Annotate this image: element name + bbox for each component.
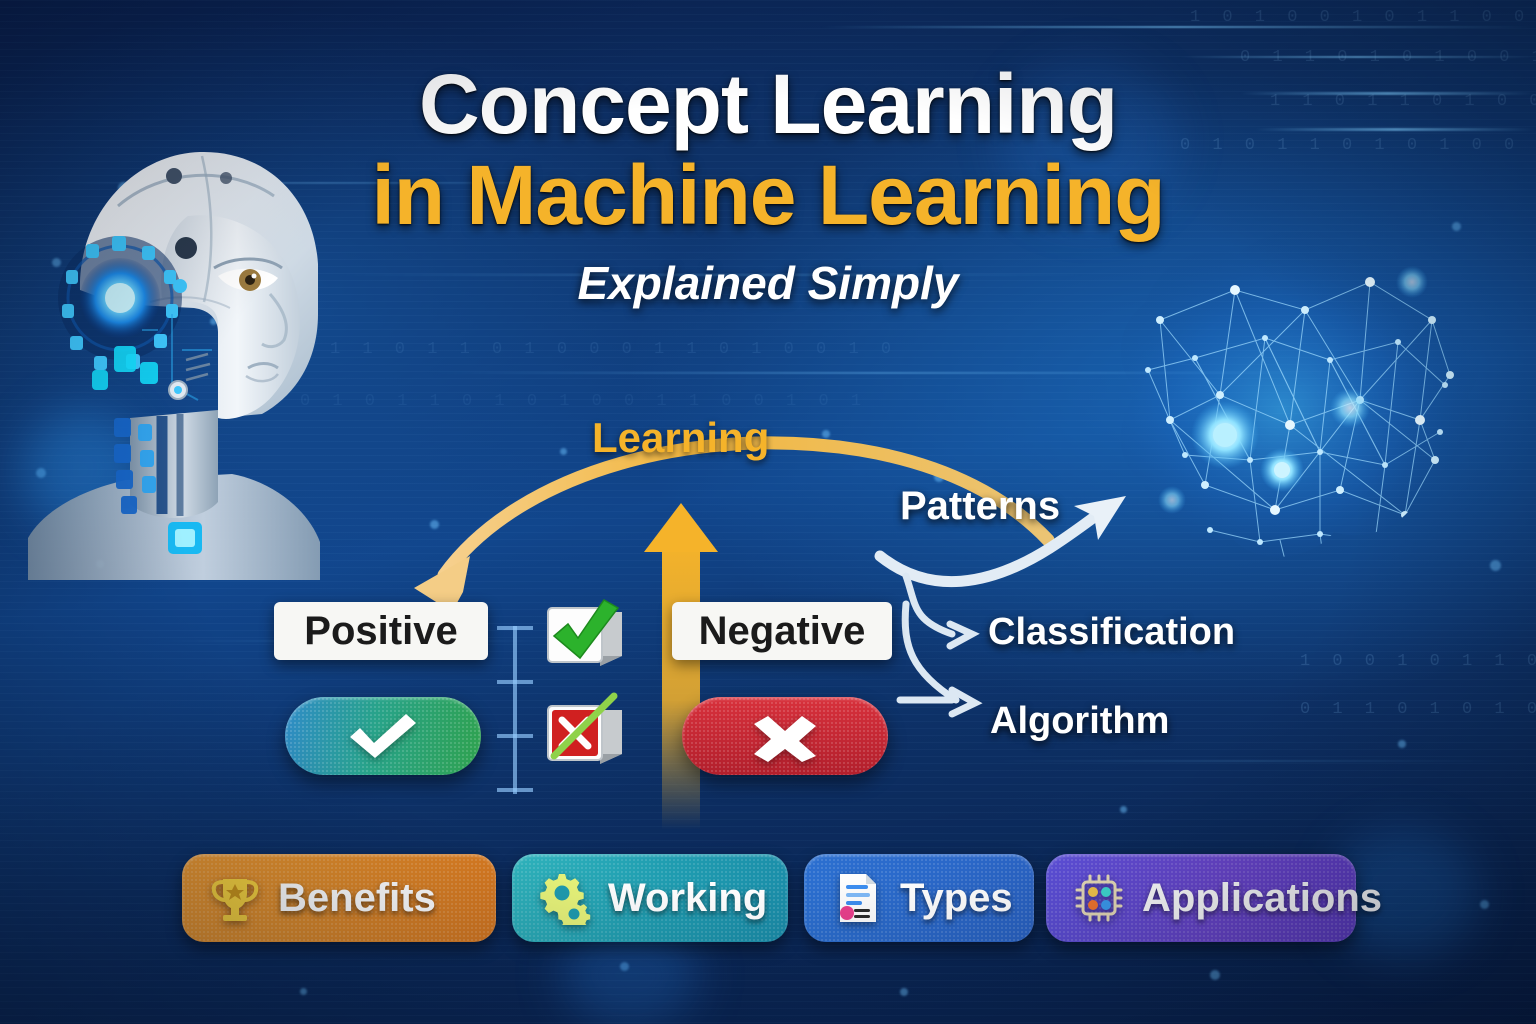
vignette-overlay [0, 0, 1536, 1024]
infographic-canvas: 1 0 1 0 0 1 0 1 1 0 0 1 0 1 0 0 1 1 0 1 … [0, 0, 1536, 1024]
